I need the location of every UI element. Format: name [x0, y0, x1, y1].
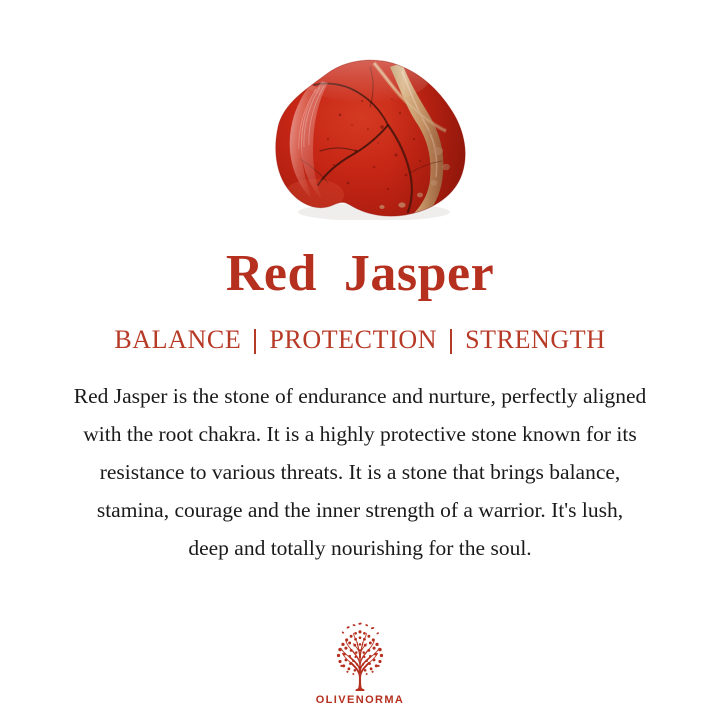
description-paragraph: Red Jasper is the stone of endurance and… [10, 377, 710, 567]
keyword-separator-1 [254, 329, 256, 354]
keyword-balance: BALANCE [112, 326, 243, 355]
keyword-protection: PROTECTION [267, 326, 439, 355]
stone-figure [0, 0, 720, 248]
description-line: deep and totally nourishing for the soul… [10, 529, 710, 567]
tree-logo-icon [323, 620, 397, 694]
stone-body [270, 55, 474, 220]
keyword-tagline: BALANCE PROTECTION STRENGTH [112, 326, 607, 355]
brand-logo[interactable]: OLIVENORMA [0, 620, 720, 706]
stone-illustration [270, 55, 474, 220]
brand-wordmark: OLIVENORMA [316, 695, 405, 706]
keyword-separator-2 [450, 329, 452, 354]
red-jasper-stone-image [270, 55, 474, 220]
page-title: Red Jasper [226, 248, 494, 300]
keyword-strength: STRENGTH [463, 326, 608, 355]
description-line: with the root chakra. It is a highly pro… [10, 415, 710, 453]
description-line: resistance to various threats. It is a s… [10, 453, 710, 491]
red-jasper-info-card: Red Jasper BALANCE PROTECTION STRENGTH R… [0, 0, 720, 720]
description-line: Red Jasper is the stone of endurance and… [10, 377, 710, 415]
description-line: stamina, courage and the inner strength … [10, 491, 710, 529]
